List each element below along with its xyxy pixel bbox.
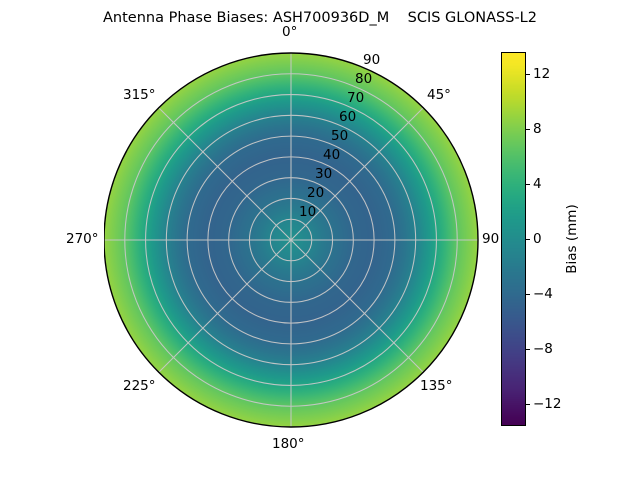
polar-plot-svg xyxy=(104,46,479,434)
colorbar-tick-mark xyxy=(526,184,530,185)
radial-label-90: 90 xyxy=(363,52,380,68)
colorbar-tick-mark xyxy=(526,239,530,240)
page-title: Antenna Phase Biases: ASH700936D_M SCIS … xyxy=(0,10,640,26)
radial-label-70: 70 xyxy=(347,90,364,106)
radial-label-40: 40 xyxy=(323,147,340,163)
colorbar-tick-label: 0 xyxy=(533,231,542,247)
radial-label-30: 30 xyxy=(315,166,332,182)
colorbar-tick-mark xyxy=(526,74,530,75)
colorbar-tick-label: −8 xyxy=(533,341,553,357)
angular-label-225: 225° xyxy=(123,378,156,394)
angular-label-270: 270° xyxy=(66,231,99,247)
angular-label-135: 135° xyxy=(420,378,453,394)
radial-label-10: 10 xyxy=(299,204,316,220)
angular-label-315: 315° xyxy=(123,87,156,103)
angular-label-90: 90 xyxy=(482,231,499,247)
colorbar-tick-label: −4 xyxy=(533,286,553,302)
colorbar[interactable]: 12840−4−8−12 xyxy=(501,52,526,426)
radial-label-60: 60 xyxy=(339,109,356,125)
figure-canvas: Antenna Phase Biases: ASH700936D_M SCIS … xyxy=(0,0,640,480)
radial-label-80: 80 xyxy=(355,71,372,87)
angular-label-0: 0° xyxy=(282,24,297,40)
colorbar-tick-mark xyxy=(526,404,530,405)
colorbar-tick-label: 4 xyxy=(533,176,542,192)
radial-label-20: 20 xyxy=(307,185,324,201)
colorbar-tick-label: 12 xyxy=(533,66,550,82)
colorbar-gradient xyxy=(501,52,526,426)
polar-grid xyxy=(104,53,478,427)
colorbar-tick-mark xyxy=(526,349,530,350)
colorbar-tick-mark xyxy=(526,129,530,130)
colorbar-tick-label: −12 xyxy=(533,396,562,412)
colorbar-axis-label: Bias (mm) xyxy=(564,204,580,273)
polar-axes[interactable]: 0° 45° 90 135° 180° 225° 270° 315° 10 20… xyxy=(104,46,479,434)
radial-label-50: 50 xyxy=(331,128,348,144)
angular-label-45: 45° xyxy=(427,87,451,103)
angular-label-180: 180° xyxy=(272,436,305,452)
colorbar-tick-label: 8 xyxy=(533,121,542,137)
colorbar-tick-mark xyxy=(526,294,530,295)
